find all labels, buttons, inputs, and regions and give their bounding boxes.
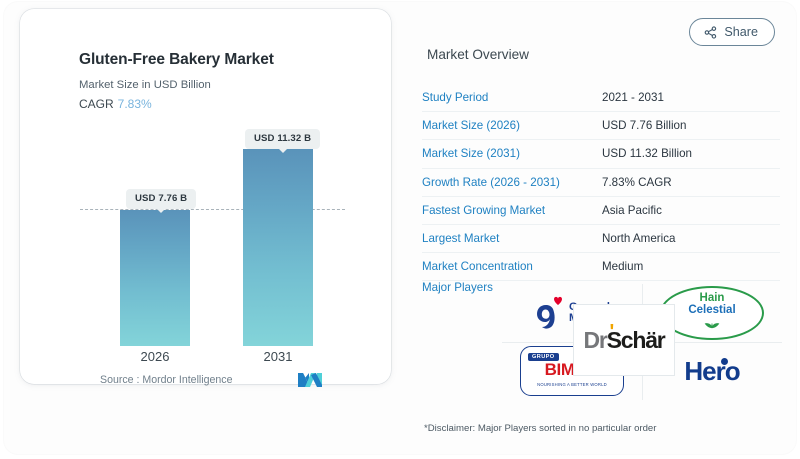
row-value: USD 7.76 Billion <box>602 119 686 132</box>
disclaimer-text: *Disclaimer: Major Players sorted in no … <box>424 423 656 434</box>
row-value: Asia Pacific <box>602 204 662 217</box>
screenshot-root: Gluten-Free Bakery Market Market Size in… <box>0 0 800 459</box>
general-mills-icon <box>534 296 564 330</box>
x-axis-tick-2026: 2026 <box>110 349 200 364</box>
table-row: Largest Market North America <box>422 225 780 253</box>
dr-schar-name: Schär <box>607 327 665 353</box>
table-row: Market Size (2031) USD 11.32 Billion <box>422 140 780 168</box>
bar-2031[interactable] <box>243 149 313 346</box>
source-label: Source : Mordor Intelligence <box>100 374 233 386</box>
row-value: USD 11.32 Billion <box>602 147 692 160</box>
row-label: Fastest Growing Market <box>422 204 602 217</box>
table-row: Market Size (2026) USD 7.76 Billion <box>422 112 780 140</box>
row-label: Market Concentration <box>422 260 602 273</box>
table-row: Fastest Growing Market Asia Pacific <box>422 197 780 225</box>
dr-schar-apostrophe-icon: ' <box>609 321 613 344</box>
hero-wordmark: Hero <box>684 356 739 387</box>
bimbo-badge: GRUPO <box>528 353 559 361</box>
share-button-label: Share <box>724 25 758 39</box>
table-row: Growth Rate (2026 - 2031) 7.83% CAGR <box>422 169 780 197</box>
row-value: 2021 - 2031 <box>602 91 664 104</box>
bar-chart-plot: USD 7.76 B USD 11.32 B 2026 2031 <box>20 9 391 384</box>
hero-dot-icon <box>721 358 728 365</box>
dr-schar-prefix: Dr <box>583 327 606 353</box>
row-label: Largest Market <box>422 232 602 245</box>
row-label: Market Size (2026) <box>422 119 602 132</box>
mordor-intelligence-logo <box>297 372 324 388</box>
row-value: Medium <box>602 260 643 273</box>
row-label: Market Size (2031) <box>422 147 602 160</box>
hain-celestial-line2: Celestial <box>688 304 735 316</box>
row-label: Growth Rate (2026 - 2031) <box>422 176 602 189</box>
bar-label-2031: USD 11.32 B <box>245 129 320 149</box>
hain-celestial-line1: Hain <box>700 293 725 304</box>
bimbo-tagline: NOURISHING A BETTER WORLD <box>537 382 607 387</box>
table-row: Market Concentration Medium <box>422 253 780 281</box>
share-icon <box>704 26 717 39</box>
row-value: North America <box>602 232 675 245</box>
table-row: Study Period 2021 - 2031 <box>422 84 780 112</box>
hero-text: Hero <box>684 356 739 386</box>
bar-2026[interactable] <box>120 210 190 346</box>
market-overview-table: Study Period 2021 - 2031 Market Size (20… <box>422 84 780 311</box>
chart-card: Gluten-Free Bakery Market Market Size in… <box>20 9 391 384</box>
logo-dr-schar: Dr'Schär <box>573 304 675 376</box>
row-value: 7.83% CAGR <box>602 176 672 189</box>
row-label: Study Period <box>422 91 602 104</box>
x-axis-tick-2031: 2031 <box>233 349 323 364</box>
bar-label-2026: USD 7.76 B <box>126 189 196 209</box>
major-players-logo-grid: General Mills Hain Celestial <box>502 284 782 400</box>
share-button[interactable]: Share <box>689 18 775 46</box>
market-overview-title: Market Overview <box>427 47 529 62</box>
leaf-icon <box>695 316 729 334</box>
